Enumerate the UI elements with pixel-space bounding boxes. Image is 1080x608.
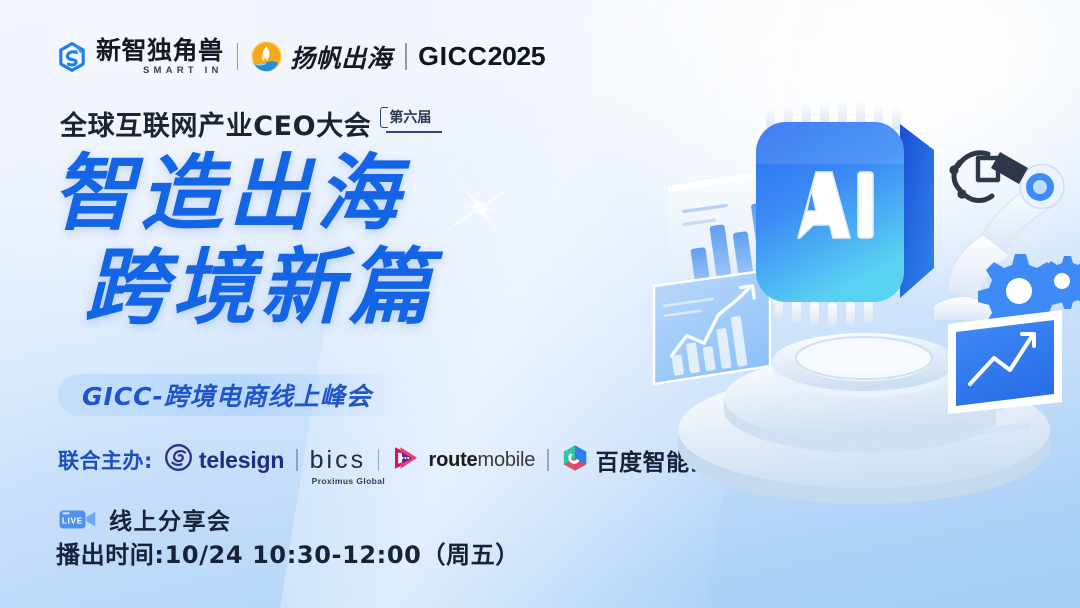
logo-divider-1 [237, 43, 239, 70]
headline-line-1: 智造出海 [52, 152, 436, 237]
svg-text:LIVE: LIVE [62, 516, 83, 526]
sparkle-star-icon [420, 148, 540, 268]
live-video-camera-icon: LIVE [58, 506, 98, 532]
live-session-row: LIVE 线上分享会 [58, 502, 232, 536]
headline-block: 智造出海 跨境新篇 [52, 152, 436, 330]
logo-divider-2 [405, 43, 407, 70]
routemobile-name: routemobile [428, 449, 535, 472]
sponsor-bics: bics Proximus Global [310, 446, 366, 475]
sponsor-telesign: telesign [165, 444, 284, 476]
sponsor-separator-2 [378, 449, 379, 471]
subtitle-text: GICC-跨境电商线上峰会 [82, 377, 372, 413]
logo-bar: 新智独角兽 SMART IN 扬帆出海 GICC2025 [56, 38, 543, 76]
telesign-name: telesign [199, 447, 284, 474]
bics-subtitle: Proximus Global [312, 476, 386, 486]
live-session-label: 线上分享会 [109, 502, 232, 536]
routemobile-name-bold: route [428, 449, 477, 471]
smartin-s-logo-icon [56, 41, 88, 73]
baidu-cloud-cube-icon [561, 444, 589, 477]
gicc-2025-logo: GICC2025 [418, 41, 545, 72]
smartin-name-cn: 新智独角兽 [96, 38, 224, 63]
sponsor-row: 联合主办: telesign bics Proximus Global [58, 442, 713, 478]
yangfan-name: 扬帆出海 [290, 39, 392, 75]
edition-badge: 第六届 [380, 105, 438, 130]
ai-illustration [648, 58, 1080, 528]
telesign-spiral-icon [165, 444, 192, 476]
routemobile-name-light: mobile [478, 449, 536, 471]
subtitle-band: GICC-跨境电商线上峰会 [58, 374, 398, 416]
smartin-logo: 新智独角兽 SMART IN [56, 38, 224, 76]
smartin-wordmark: 新智独角兽 SMART IN [96, 38, 224, 76]
sponsor-separator-1 [296, 449, 297, 471]
line-chart-card [654, 270, 770, 384]
sponsor-label: 联合主办: [58, 445, 153, 475]
yangfan-logo: 扬帆出海 [251, 39, 392, 75]
sponsor-separator-3 [547, 449, 548, 471]
gicc-label: GICC [418, 41, 487, 71]
promo-banner: 新智独角兽 SMART IN 扬帆出海 GICC2025 [0, 0, 1080, 608]
conference-title-row: 全球互联网产业CEO大会 第六届 [60, 104, 438, 143]
broadcast-time: 播出时间:10/24 10:30-12:00（周五） [56, 535, 520, 570]
bics-name: bics [310, 446, 366, 475]
headline-line-2: 跨境新篇 [84, 246, 436, 331]
smartin-name-en: SMART IN [96, 66, 224, 76]
routemobile-triangle-icon [391, 444, 421, 477]
yangfan-sail-sun-icon [251, 41, 282, 72]
conference-title: 全球互联网产业CEO大会 [60, 104, 371, 143]
gicc-year: 2025 [487, 41, 545, 71]
ai-chip [756, 98, 934, 326]
sponsor-routemobile: routemobile [391, 444, 535, 477]
